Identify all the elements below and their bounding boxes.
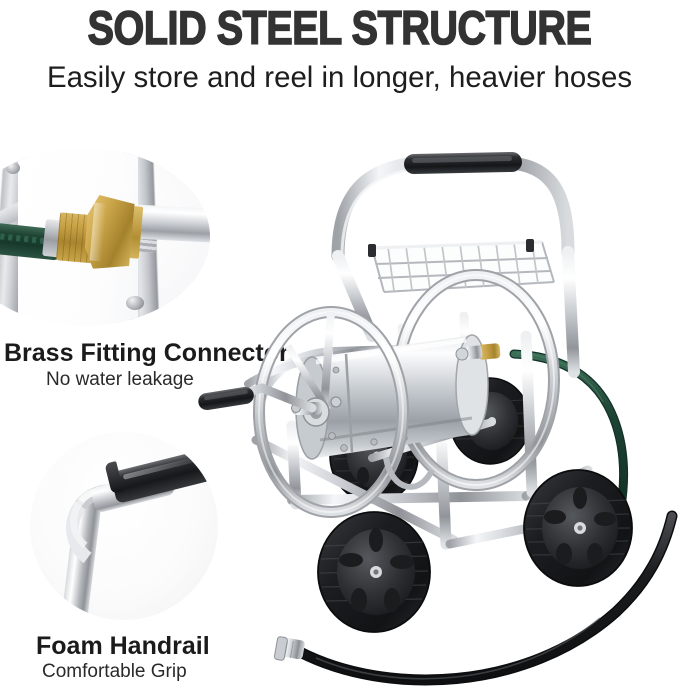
feature-inset-foam-handrail [30, 432, 218, 620]
brass-hose-coupling-photo [0, 148, 210, 326]
chrome-threaded-connector [274, 636, 305, 660]
bolt-icon [126, 296, 144, 310]
page-title: SOLID STEEL STRUCTURE [54, 2, 624, 54]
wire-storage-basket [368, 239, 554, 292]
wheel-front-left [318, 512, 430, 632]
page-subtitle: Easily store and reel in longer, heavier… [7, 60, 672, 96]
wheel-front-right [524, 470, 632, 586]
product-image-hose-reel-cart [196, 140, 679, 687]
feature-subtitle-brass-fitting: No water leakage [46, 369, 194, 391]
feature-title-foam-handrail: Foam Handrail [36, 632, 210, 661]
marketing-banner: SOLID STEEL STRUCTURE Easily store and r… [0, 0, 679, 687]
feature-subtitle-foam-handrail: Comfortable Grip [42, 661, 187, 683]
feature-inset-brass-fitting [0, 148, 210, 326]
foam-grip-tube-photo [30, 432, 218, 620]
foam-handle-grip [404, 152, 522, 174]
bolt-icon [6, 162, 20, 174]
